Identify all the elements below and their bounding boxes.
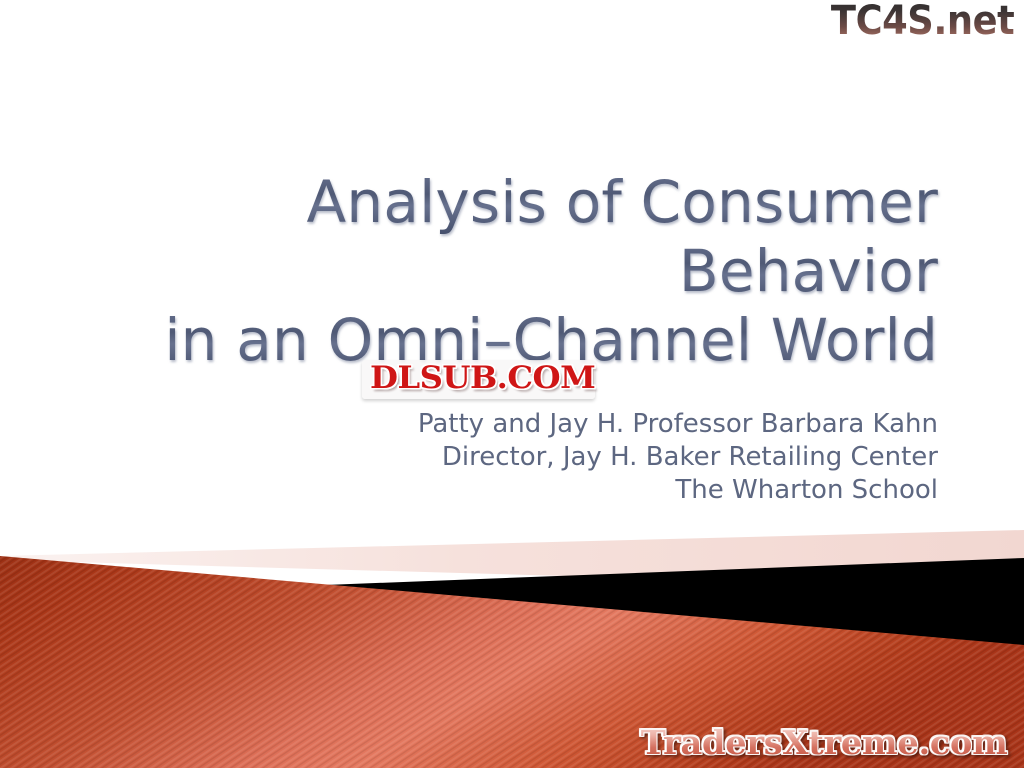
- subtitle-line-1: Patty and Jay H. Professor Barbara Kahn: [60, 408, 938, 441]
- title-line-1: Analysis of Consumer: [60, 168, 938, 237]
- tc4s-watermark: TC4S.net: [831, 0, 1014, 44]
- slide-subtitle: Patty and Jay H. Professor Barbara Kahn …: [60, 408, 938, 507]
- presentation-slide: TC4S.net: [0, 0, 1024, 768]
- subtitle-line-2: Director, Jay H. Baker Retailing Center: [60, 441, 938, 474]
- dlsub-watermark-text: DLSUB.COM: [370, 363, 595, 394]
- dlsub-watermark: DLSUB.COM: [362, 360, 595, 399]
- tradersxtreme-watermark: TradersXtreme.com: [641, 724, 1008, 762]
- title-line-2: Behavior: [60, 237, 938, 306]
- slide-title: Analysis of Consumer Behavior in an Omni…: [60, 168, 938, 375]
- subtitle-line-3: The Wharton School: [60, 474, 938, 507]
